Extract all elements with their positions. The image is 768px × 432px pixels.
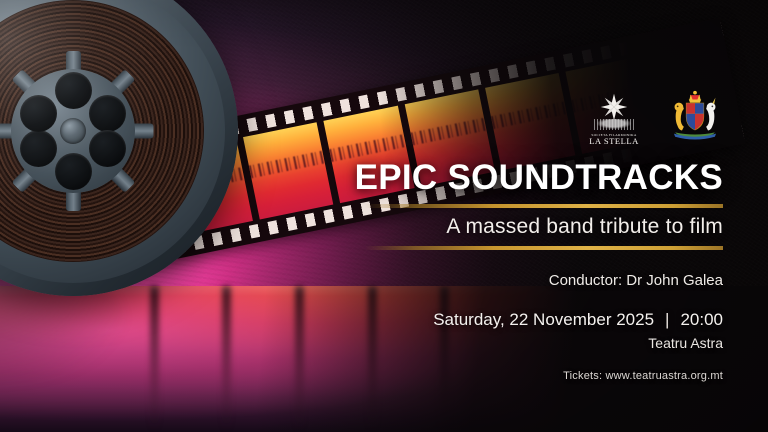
conductor-line: Conductor: Dr John Galea: [223, 272, 723, 289]
la-stella-logo: SOCJETA FILARMONIKA LA STELLA: [586, 91, 642, 146]
date-time-separator: |: [654, 310, 680, 329]
maltese-cross-icon: [592, 91, 636, 131]
gold-rule-top: [365, 204, 723, 208]
poster-canvas: SOCJETA FILARMONIKA LA STELLA: [0, 0, 768, 432]
la-stella-title-line: LA STELLA: [589, 137, 639, 146]
page-subtitle: A massed band tribute to film: [223, 215, 723, 239]
poster-text-block: EPIC SOUNDTRACKS A massed band tribute t…: [223, 160, 723, 382]
page-title: EPIC SOUNDTRACKS: [223, 160, 723, 196]
tickets-line[interactable]: Tickets: www.teatruastra.org.mt: [223, 370, 723, 382]
venue-name: Teatru Astra: [223, 335, 723, 351]
logo-group: SOCJETA FILARMONIKA LA STELLA: [586, 84, 726, 146]
gold-rule-bottom: [365, 246, 723, 250]
event-date: Saturday, 22 November 2025: [433, 310, 654, 329]
maltese-cross-glyph: [599, 92, 629, 122]
date-time-line: Saturday, 22 November 2025|20:00: [223, 310, 723, 330]
lion-supporter: [675, 103, 684, 131]
event-time: 20:00: [680, 310, 723, 329]
royal-coat-of-arms-logo: [664, 84, 726, 146]
crown-icon: [689, 91, 701, 103]
logo-scroll-ornament: [594, 119, 634, 130]
unicorn-supporter: [706, 98, 715, 131]
